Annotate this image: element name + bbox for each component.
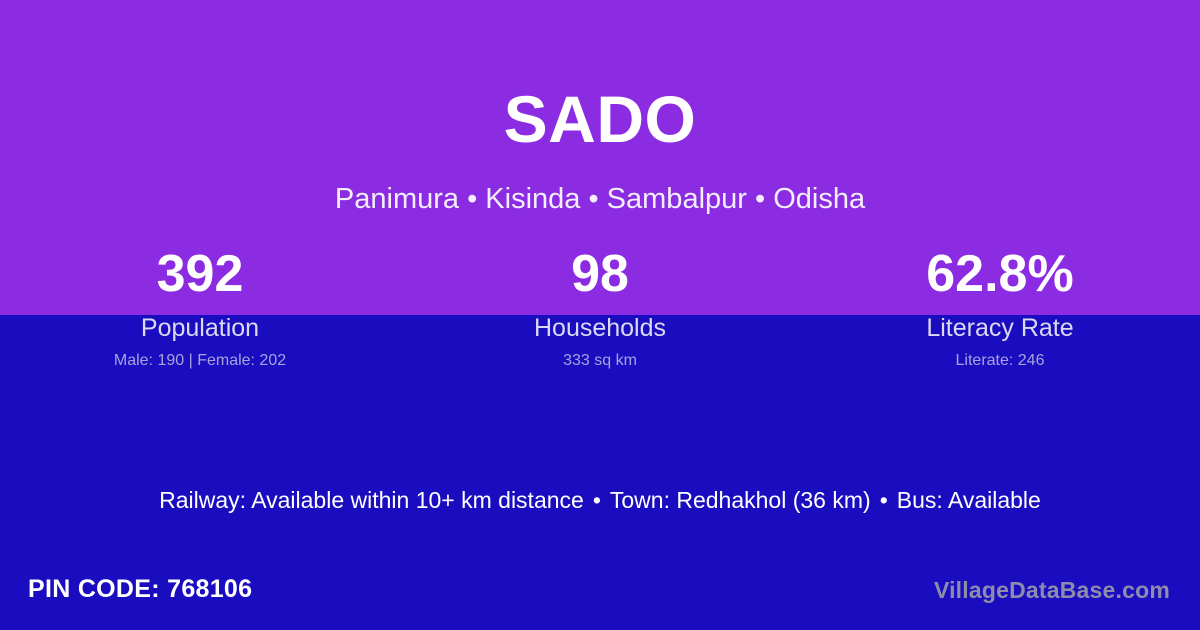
railway-info: Railway: Available within 10+ km distanc… (159, 487, 584, 513)
population-gender-breakdown: Male: 190 | Female: 202 (0, 351, 400, 370)
card-footer: PIN CODE: 768106 VillageDataBase.com (0, 572, 1200, 616)
pin-code-label: PIN CODE: 768106 (28, 572, 252, 606)
population-label: Population (0, 313, 400, 343)
village-info-card: SADO Panimura • Kisinda • Sambalpur • Od… (0, 0, 1200, 630)
stat-literacy-rate: 62.8% Literacy Rate Literate: 246 (800, 243, 1200, 370)
site-brand-watermark: VillageDataBase.com (934, 575, 1170, 605)
village-name-title: SADO (0, 86, 1200, 152)
area-sublabel: 333 sq km (400, 351, 800, 370)
location-breadcrumb: Panimura • Kisinda • Sambalpur • Odisha (0, 181, 1200, 219)
households-value: 98 (400, 243, 800, 305)
stat-population: 392 Population Male: 190 | Female: 202 (0, 243, 400, 370)
nearest-town-info: Town: Redhakhol (36 km) (610, 487, 871, 513)
bus-info: Bus: Available (897, 487, 1041, 513)
households-label: Households (400, 313, 800, 343)
statistics-row: 392 Population Male: 190 | Female: 202 9… (0, 243, 1200, 370)
literacy-rate-label: Literacy Rate (800, 313, 1200, 343)
population-value: 392 (0, 243, 400, 305)
stat-households: 98 Households 333 sq km (400, 243, 800, 370)
infra-separator-dot: • (584, 484, 610, 516)
literate-count-sublabel: Literate: 246 (800, 351, 1200, 370)
literacy-rate-value: 62.8% (800, 243, 1200, 305)
infra-separator-dot: • (871, 484, 897, 516)
infrastructure-summary: Railway: Available within 10+ km distanc… (0, 484, 1200, 516)
